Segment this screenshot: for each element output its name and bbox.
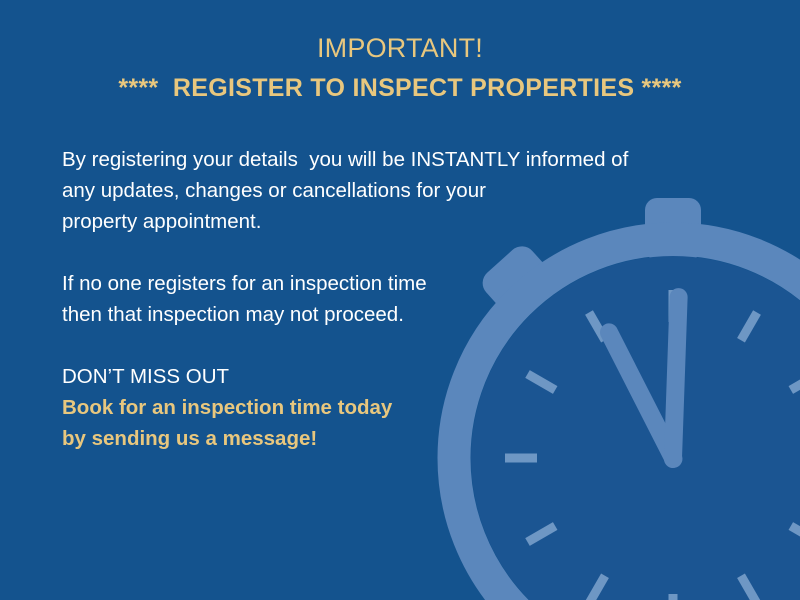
body-line: property appointment.	[62, 206, 742, 237]
body-line: then that inspection may not proceed.	[62, 299, 742, 330]
header-block: IMPORTANT! **** REGISTER TO INSPECT PROP…	[0, 30, 800, 106]
paragraph-no-registrations: If no one registers for an inspection ti…	[62, 268, 742, 330]
cta-send-message: by sending us a message!	[62, 423, 742, 454]
content-layer: IMPORTANT! **** REGISTER TO INSPECT PROP…	[0, 0, 800, 600]
cta-book-inspection: Book for an inspection time today	[62, 392, 742, 423]
body-block: By registering your details you will be …	[62, 144, 742, 454]
page-title: IMPORTANT!	[0, 30, 800, 66]
paragraph-registering-details: By registering your details you will be …	[62, 144, 742, 237]
paragraph-call-to-action: DON’T MISS OUT Book for an inspection ti…	[62, 361, 742, 454]
body-line: By registering your details you will be …	[62, 144, 742, 175]
slide-canvas: IMPORTANT! **** REGISTER TO INSPECT PROP…	[0, 0, 800, 600]
cta-dont-miss-out: DON’T MISS OUT	[62, 361, 742, 392]
page-subtitle: **** REGISTER TO INSPECT PROPERTIES ****	[0, 70, 800, 106]
body-line: any updates, changes or cancellations fo…	[62, 175, 742, 206]
body-line: If no one registers for an inspection ti…	[62, 268, 742, 299]
